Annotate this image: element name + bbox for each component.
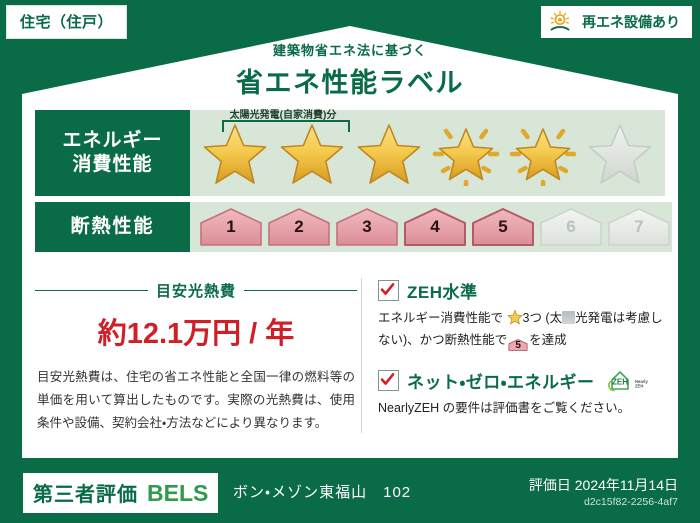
- net-zero-energy-row: ネット・ゼロ・エネルギー ZEH Nearly ZEH: [378, 368, 665, 393]
- solar-annotation-label: 太陽光発電(自家消費)分: [217, 106, 349, 121]
- insulation-level-1: 1: [198, 207, 264, 247]
- bels-name: BELS: [147, 480, 208, 507]
- label-title-block: 建築物省エネ法に基づく 省エネ性能ラベル: [0, 40, 700, 100]
- zeh-house-logo: ZEH Nearly ZEH: [603, 368, 650, 393]
- utility-cost-description: 目安光熱費は、住宅の省エネ性能と全国一律の燃料等の単価を用いて算出したものです。…: [35, 366, 357, 435]
- ratings-section: エネルギー 消費性能 太陽光発電(自家消費)分: [35, 110, 665, 258]
- evaluation-id: d2c15f82-2256-4af7: [584, 496, 678, 508]
- zeh-block: ZEH水準 エネルギー消費性能で 3つ (太光発電は考慮しない)、かつ断熱性能で…: [372, 278, 665, 435]
- insulation-level-scale: 1 2 3 4: [198, 207, 672, 247]
- bels-prefix: 第三者評価: [33, 478, 138, 507]
- zeh-standard-description: エネルギー消費性能で 3つ (太光発電は考慮しない)、かつ断熱性能で 5 を達成: [378, 308, 665, 353]
- insulation-level-5: 5: [470, 207, 536, 247]
- net-zero-energy-description: NearlyZEH の要件は評価書をご覧ください。: [378, 398, 665, 420]
- solar-annotation-bracket: [222, 120, 350, 132]
- evaluation-date: 評価日 2024年11月14日: [529, 475, 678, 495]
- svg-text:ZEH: ZEH: [612, 377, 628, 386]
- bels-badge: 第三者評価 BELS: [23, 473, 218, 513]
- check-icon: [378, 280, 399, 301]
- insulation-levels-panel: 1 2 3 4: [190, 202, 672, 252]
- energy-stars-panel: 太陽光発電(自家消費)分: [190, 110, 665, 196]
- house-type-tag: 住宅（住戸）: [6, 5, 127, 39]
- star-5-solar: [504, 118, 581, 188]
- insulation-level-3: 3: [334, 207, 400, 247]
- renewable-equipment-badge: 再エネ設備あり: [541, 6, 692, 38]
- svg-text:ZEH: ZEH: [635, 383, 643, 388]
- inline-insulation-level-badge: 5: [508, 337, 528, 353]
- utility-cost-block: 目安光熱費 約12.1万円 / 年 目安光熱費は、住宅の省エネ性能と全国一律の燃…: [35, 278, 357, 435]
- utility-cost-heading-text: 目安光熱費: [156, 280, 236, 301]
- insulation-level-6: 6: [538, 207, 604, 247]
- check-icon-2: [378, 370, 399, 391]
- insulation-row: 断熱性能: [35, 202, 665, 252]
- label-footer: 第三者評価 BELS ボン・メゾン東福山 102 評価日 2024年11月14日…: [0, 463, 700, 523]
- star-6-empty: [581, 118, 658, 188]
- title-main: 省エネ性能ラベル: [0, 61, 700, 100]
- details-section: 目安光熱費 約12.1万円 / 年 目安光熱費は、住宅の省エネ性能と全国一律の燃…: [35, 278, 665, 435]
- insulation-level-7: 7: [606, 207, 672, 247]
- energy-performance-label: 住宅（住戸） 再エネ設備あり 建築物省エネ法に基づく: [0, 0, 700, 523]
- title-subtitle: 建築物省エネ法に基づく: [0, 40, 700, 59]
- utility-cost-value: 約12.1万円 / 年: [35, 310, 357, 352]
- zeh-standard-row: ZEH水準: [378, 278, 665, 303]
- renewable-badge-label: 再エネ設備あり: [582, 12, 680, 32]
- energy-consumption-row: エネルギー 消費性能 太陽光発電(自家消費)分: [35, 110, 665, 196]
- zeh-standard-title: ZEH水準: [407, 278, 478, 303]
- star-4-solar: [427, 118, 504, 188]
- solar-sun-icon: [549, 10, 575, 34]
- insulation-level-4: 4: [402, 207, 468, 247]
- vertical-divider: [361, 278, 362, 433]
- insulation-row-label: 断熱性能: [35, 202, 190, 252]
- inline-star-icon: [507, 309, 523, 325]
- net-zero-energy-title: ネット・ゼロ・エネルギー: [407, 368, 595, 393]
- insulation-level-2: 2: [266, 207, 332, 247]
- heading-rule-left: [35, 290, 148, 291]
- redacted-character: [562, 311, 575, 324]
- property-name: ボン・メゾン東福山 102: [233, 481, 411, 502]
- utility-cost-heading: 目安光熱費: [35, 280, 357, 301]
- heading-rule-right: [244, 290, 357, 291]
- energy-row-label: エネルギー 消費性能: [35, 110, 190, 196]
- star-3: [350, 118, 427, 188]
